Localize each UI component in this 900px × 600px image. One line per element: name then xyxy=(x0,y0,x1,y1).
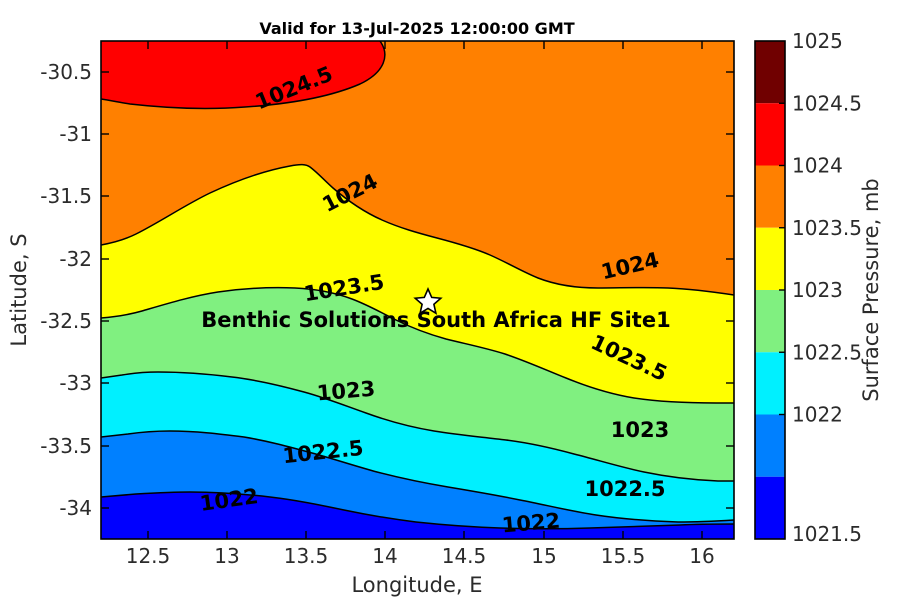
x-tick-label: 14.5 xyxy=(442,544,487,568)
x-tick-label: 15 xyxy=(531,544,556,568)
contour-label-1023-left: 1023 xyxy=(316,376,376,405)
x-tick-label: 16 xyxy=(689,544,714,568)
y-axis-title: Latitude, S xyxy=(7,233,31,346)
colorbar-tick-label: 1024.5 xyxy=(792,91,862,115)
y-tick-label: -31 xyxy=(59,122,92,146)
contour-label-1023-right: 1023 xyxy=(611,418,669,442)
contour-map-figure: Valid for 13-Jul-2025 12:00:00 GMT xyxy=(0,0,900,600)
y-tick-label: -30.5 xyxy=(40,60,92,84)
colorbar-tick-label: 1021.5 xyxy=(792,522,862,546)
colorbar-swatch-1023p5 xyxy=(755,228,785,290)
colorbar-swatch-1025 xyxy=(755,41,785,103)
contour-label-1022-right: 1022 xyxy=(501,508,561,537)
x-tick-label: 13.5 xyxy=(284,544,329,568)
contour-fill-group: 1024.5 1024 1024 1023.5 1023.5 1023 xyxy=(101,41,734,539)
y-tick-label: -31.5 xyxy=(40,184,92,208)
colorbar-axis-title: Surface Pressure, mb xyxy=(859,178,883,401)
y-tick-label: -34 xyxy=(59,496,92,520)
y-tick-label: -33.5 xyxy=(40,434,92,458)
colorbar-swatch-1021p5 xyxy=(755,477,785,539)
colorbar-tick-label: 1022 xyxy=(792,403,843,427)
colorbar-tick-label: 1025 xyxy=(792,29,843,53)
contour-label-1022p5-right: 1022.5 xyxy=(584,477,665,501)
x-axis-title: Longitude, E xyxy=(351,573,482,597)
colorbar-swatch-1022 xyxy=(755,415,785,477)
colorbar-swatch-1024p5 xyxy=(755,103,785,165)
colorbar-tick-label: 1023 xyxy=(792,278,843,302)
colorbar-tick-label: 1024 xyxy=(792,154,843,178)
y-tick-label: -33 xyxy=(59,371,92,395)
colorbar-tick-label: 1022.5 xyxy=(792,340,862,364)
colorbar-swatch-1024 xyxy=(755,166,785,228)
y-tick-label: -32 xyxy=(59,247,92,271)
colorbar-tick-label: 1023.5 xyxy=(792,216,862,240)
colorbar-swatch-1023 xyxy=(755,290,785,352)
plot-title: Valid for 13-Jul-2025 12:00:00 GMT xyxy=(259,19,574,38)
x-tick-label: 12.5 xyxy=(126,544,171,568)
y-tick-label: -32.5 xyxy=(40,309,92,333)
x-tick-label: 13 xyxy=(214,544,239,568)
plot-area: 1024.5 1024 1024 1023.5 1023.5 1023 xyxy=(7,41,734,597)
colorbar-swatch-1022p5 xyxy=(755,352,785,414)
x-tick-label: 15.5 xyxy=(601,544,646,568)
x-tick-label: 14 xyxy=(372,544,397,568)
site-label: Benthic Solutions South Africa HF Site1 xyxy=(201,308,670,332)
